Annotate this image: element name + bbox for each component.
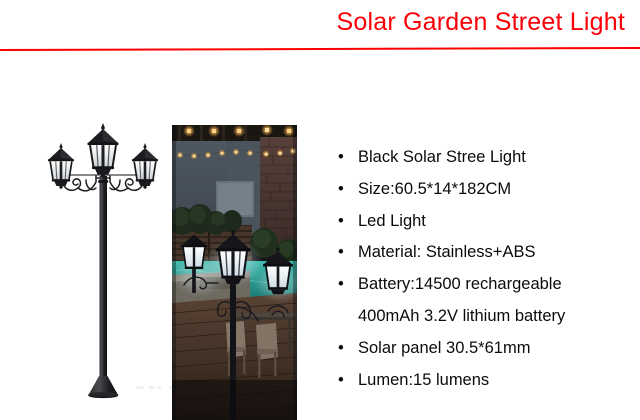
spec-item: • Led Light	[336, 206, 636, 238]
product-spec-list: • Black Solar Stree Light • Size:60.5*14…	[336, 142, 636, 396]
bullet-glyph: •	[338, 333, 348, 365]
spec-item: • Solar panel 30.5*61mm	[336, 333, 636, 365]
bullet-glyph: •	[338, 365, 348, 397]
spec-item: • Lumen:15 lumens	[336, 365, 636, 397]
bullet-glyph: •	[338, 142, 348, 174]
bullet-glyph: •	[338, 237, 348, 269]
spec-item: • Size:60.5*14*182CM	[336, 174, 636, 206]
bullet-glyph: •	[338, 269, 348, 301]
spec-item-continuation: 400mAh 3.2V lithium battery	[336, 301, 636, 333]
spec-item-label: Solar panel 30.5*61mm	[358, 339, 530, 357]
bullet-glyph: •	[338, 206, 348, 238]
spec-item-label: Lumen:15 lumens	[358, 371, 489, 389]
render-watermark	[136, 384, 176, 392]
spec-item-label: Material: Stainless+ABS	[358, 243, 535, 261]
spec-item-label: 400mAh 3.2V lithium battery	[358, 307, 565, 325]
scene-photo-image	[172, 125, 297, 420]
spec-item: • Material: Stainless+ABS	[336, 237, 636, 269]
spec-item: • Black Solar Stree Light	[336, 142, 636, 174]
product-render-image	[30, 118, 180, 403]
spec-item: • Battery:14500 rechargeable	[336, 269, 636, 301]
spec-item-label: Led Light	[358, 212, 426, 230]
divider-line	[0, 47, 640, 51]
spec-item-label: Size:60.5*14*182CM	[358, 180, 511, 198]
title-divider-rule	[0, 47, 640, 53]
spec-item-label: Black Solar Stree Light	[358, 148, 526, 166]
spec-item-label: Battery:14500 rechargeable	[358, 275, 562, 293]
page-title: Solar Garden Street Light	[0, 6, 625, 38]
bullet-glyph: •	[338, 174, 348, 206]
